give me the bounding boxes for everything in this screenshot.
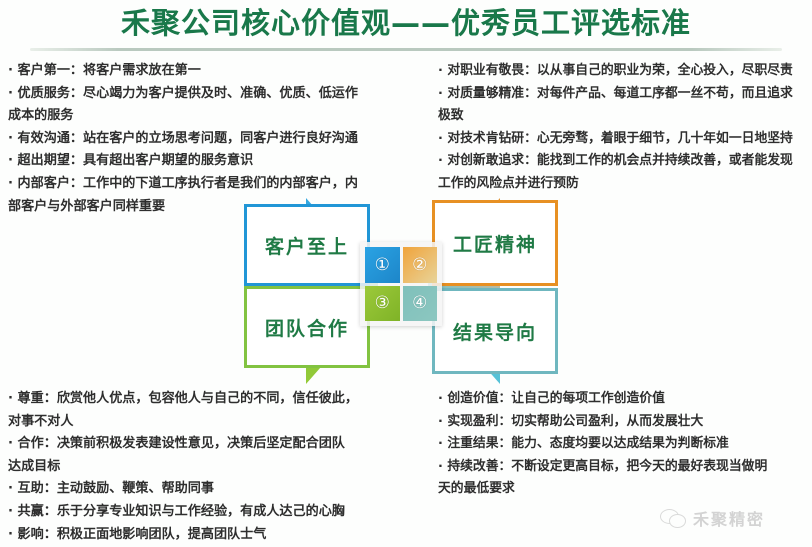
bullet-line: · 对质量够精准：对每件产品、每道工序都一丝不苟，而且追求 — [438, 83, 812, 106]
wechat-icon — [660, 508, 686, 528]
number-tile-2[interactable]: ② — [403, 247, 438, 283]
text-block-teamwork: · 尊重：欣赏他人优点，包容他人与自己的不同，信任彼此， 对事不对人 · 合作：… — [8, 388, 428, 546]
number-tile-1[interactable]: ① — [365, 247, 400, 283]
quadrant-customer-first[interactable]: 客户至上 — [244, 204, 370, 286]
watermark-text: 禾聚精密 — [693, 506, 765, 530]
bullet-line: 对事不对人 — [8, 411, 428, 434]
bullet-line: · 超出期望：具有超出客户期望的服务意识 — [8, 150, 428, 173]
text-block-result-oriented: · 创造价值：让自己的每项工作创造价值 · 实现盈利：切实帮助公司盈利，从而发展… — [438, 388, 812, 501]
title-divider — [30, 48, 782, 51]
bullet-line: · 对创新敢追求：能找到工作的机会点并持续改善，或者能发现 — [438, 150, 812, 173]
bullet-line: 极致 — [438, 105, 812, 128]
bullet-line: · 互助：主动鼓励、鞭策、帮助同事 — [8, 478, 428, 501]
slide-canvas: 禾聚公司核心价值观——优秀员工评选标准 · 客户第一：将客户需求放在第一 · 优… — [0, 0, 812, 547]
bullet-line: · 尊重：欣赏他人优点，包容他人与自己的不同，信任彼此， — [8, 388, 428, 411]
number-tile-4[interactable]: ④ — [403, 286, 438, 322]
bullet-line: · 内部客户：工作中的下道工序执行者是我们的内部客户，内 — [8, 173, 428, 196]
bullet-line: · 对职业有敬畏：以从事自己的职业为荣，全心投入，尽职尽责 — [438, 60, 812, 83]
bullet-line: 工作的风险点并进行预防 — [438, 173, 812, 196]
bullet-line: · 客户第一：将客户需求放在第一 — [8, 60, 428, 83]
text-block-craftsmanship: · 对职业有敬畏：以从事自己的职业为荣，全心投入，尽职尽责 · 对质量够精准：对… — [438, 60, 812, 196]
bullet-line: 成本的服务 — [8, 105, 428, 128]
bullet-line: · 优质服务：尽心竭力为客户提供及时、准确、优质、低运作 — [8, 83, 428, 106]
quadrant-result-oriented[interactable]: 结果导向 — [432, 288, 558, 374]
bullet-line: · 创造价值：让自己的每项工作创造价值 — [438, 388, 812, 411]
core-values-diagram: 客户至上 工匠精神 团队合作 结果导向 ① ② ③ ④ — [232, 198, 572, 384]
center-number-grid: ① ② ③ ④ — [360, 242, 442, 326]
watermark: 禾聚精密 — [660, 498, 810, 538]
bullet-line: · 对技术肯钻研：心无旁骛，着眼于细节，几十年如一日地坚持 — [438, 128, 812, 151]
bullet-line: · 影响：积极正面地影响团队，提高团队士气 — [8, 524, 428, 547]
bullet-line: · 实现盈利：切实帮助公司盈利，从而发展壮大 — [438, 411, 812, 434]
bullet-line: · 有效沟通：站在客户的立场思考问题，同客户进行良好沟通 — [8, 128, 428, 151]
number-tile-3[interactable]: ③ — [365, 286, 400, 322]
text-block-customer-first: · 客户第一：将客户需求放在第一 · 优质服务：尽心竭力为客户提供及时、准确、优… — [8, 60, 428, 218]
wechat-icon-bubble-small — [669, 514, 686, 528]
page-title: 禾聚公司核心价值观——优秀员工评选标准 — [0, 4, 812, 42]
bullet-line: 达成目标 — [8, 456, 428, 479]
bullet-line: · 共赢：乐于分享专业知识与工作经验，有成人达己的心胸 — [8, 501, 428, 524]
bullet-line: · 持续改善：不断设定更高目标，把今天的最好表现当做明 — [438, 456, 812, 479]
bullet-line: · 合作：决策前积极发表建设性意见，决策后坚定配合团队 — [8, 433, 428, 456]
quadrant-teamwork[interactable]: 团队合作 — [244, 286, 370, 368]
quadrant-craftsmanship[interactable]: 工匠精神 — [432, 200, 558, 286]
bullet-line: · 注重结果：能力、态度均要以达成结果为判断标准 — [438, 433, 812, 456]
